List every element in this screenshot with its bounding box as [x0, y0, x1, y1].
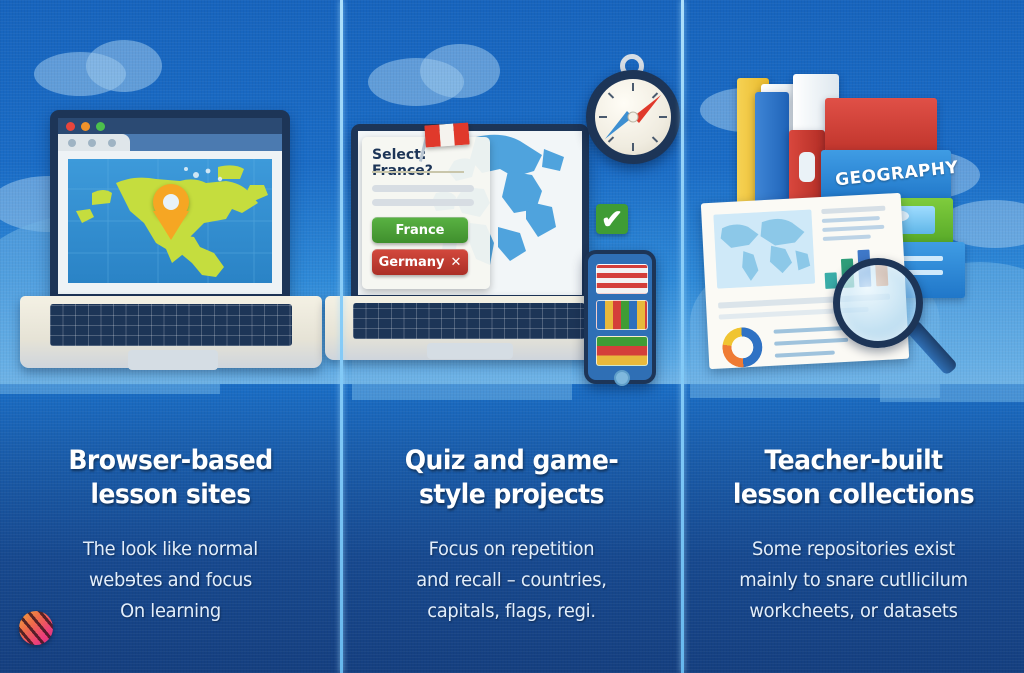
- traffic-light-maximize-icon[interactable]: [96, 122, 105, 131]
- magnifier-lens: [833, 258, 923, 348]
- laptop-illustration: [16, 106, 326, 382]
- heading-line: lesson sites: [12, 478, 329, 512]
- map-pin-tip: [153, 211, 189, 240]
- quiz-divider: [372, 171, 464, 173]
- worksheet-line: [822, 216, 880, 223]
- panel-body: Focus on repetition and recall – countri…: [351, 534, 672, 627]
- quiz-option-france[interactable]: France: [372, 217, 468, 243]
- laptop-trackpad[interactable]: [128, 350, 218, 370]
- panel-divider-left: [340, 0, 343, 673]
- browser-window: [58, 118, 282, 294]
- book-red-label: [799, 152, 815, 182]
- worksheet-line: [821, 206, 885, 214]
- donut-ring: [721, 326, 763, 368]
- map-pin-hole: [163, 194, 179, 210]
- body-line: workcheets, or datasets: [693, 596, 1014, 627]
- heading-line: Quiz and game-: [353, 444, 670, 478]
- tab-dot-icon: [88, 139, 96, 147]
- quiz-card: Select: France? France Germany ✕: [362, 137, 490, 289]
- quiz-placeholder-line: [372, 185, 474, 192]
- correct-check-badge: ✔: [596, 204, 628, 234]
- worksheet-donut-chart: [721, 326, 763, 368]
- flag-card[interactable]: [596, 264, 648, 294]
- quiz-placeholder-line: [372, 199, 474, 206]
- quiz-option-germany[interactable]: Germany ✕: [372, 249, 468, 275]
- book-blue-tall: [755, 92, 789, 214]
- compass-illustration: [578, 54, 682, 180]
- heading-line: lesson collections: [695, 478, 1012, 512]
- heading-line: Teacher-built: [695, 444, 1012, 478]
- heading-line: style projects: [353, 478, 670, 512]
- body-line: Focus on repetition: [351, 534, 672, 565]
- worksheet-line: [822, 225, 884, 232]
- panel-text-block: Teacher-built lesson collections Some re…: [683, 444, 1024, 627]
- panel-heading: Quiz and game- style projects: [353, 444, 670, 512]
- phone-illustration: [584, 250, 656, 384]
- laptop-keyboard[interactable]: [50, 304, 292, 346]
- infographic-canvas: Browser-based lesson sites The look like…: [0, 0, 1024, 673]
- panel-teacher-built-lesson-collections: GEOGRAPHY: [683, 0, 1024, 673]
- worksheet-line: [775, 351, 835, 358]
- magnifier-illustration: [831, 256, 971, 386]
- book-red-lying: [825, 98, 937, 152]
- quiz-prompt: Select: France?: [372, 147, 490, 179]
- body-line: On learning: [10, 596, 331, 627]
- body-line: Some repositories exist: [693, 534, 1014, 565]
- wrong-mark-icon: ✕: [451, 255, 462, 270]
- heading-line: Browser-based: [12, 444, 329, 478]
- laptop-keyboard[interactable]: [353, 303, 585, 339]
- laptop-trackpad[interactable]: [427, 343, 513, 359]
- panel-quiz-and-game-style-projects: Select: France? France Germany ✕: [341, 0, 682, 673]
- panel-divider-right: [681, 0, 684, 673]
- worksheet-map-svg: [713, 210, 815, 289]
- body-line: capitals, flags, regi.: [351, 596, 672, 627]
- body-line: The look like normal: [10, 534, 331, 565]
- flag-card[interactable]: [596, 336, 648, 366]
- phone-home-button[interactable]: [614, 370, 630, 386]
- browser-tab[interactable]: [58, 134, 130, 151]
- panel-text-block: Browser-based lesson sites The look like…: [0, 444, 341, 627]
- worksheet-map: [713, 210, 815, 289]
- panel-body: Some repositories exist mainly to snare …: [693, 534, 1014, 627]
- tab-dot-icon: [108, 139, 116, 147]
- world-map-viewport: [68, 159, 272, 283]
- body-line: webɘtes and focus: [10, 565, 331, 596]
- body-line: and recall – countries,: [351, 565, 672, 596]
- tab-dot-icon: [68, 139, 76, 147]
- books-illustration: GEOGRAPHY: [703, 74, 1003, 390]
- quiz-option-label: France: [395, 223, 444, 238]
- panel-heading: Teacher-built lesson collections: [695, 444, 1012, 512]
- panel-heading: Browser-based lesson sites: [12, 444, 329, 512]
- quiz-screen: Select: France? France Germany ✕: [358, 131, 582, 295]
- browser-tabbar: [58, 134, 282, 151]
- compass-needle-icon: [595, 79, 671, 155]
- check-icon: ✔: [601, 206, 623, 232]
- traffic-light-close-icon[interactable]: [66, 122, 75, 131]
- panel-text-block: Quiz and game- style projects Focus on r…: [341, 444, 682, 627]
- panel-browser-based-lesson-sites: Browser-based lesson sites The look like…: [0, 0, 341, 673]
- panel-body: The look like normal webɘtes and focus O…: [10, 534, 331, 627]
- browser-titlebar: [58, 118, 282, 134]
- france-flag-icon: [424, 122, 469, 147]
- worksheet-line: [823, 235, 871, 242]
- traffic-light-minimize-icon[interactable]: [81, 122, 90, 131]
- flag-card[interactable]: [596, 300, 648, 330]
- body-line: mainly to snare cutllicilum: [693, 565, 1014, 596]
- quiz-option-label: Germany: [379, 255, 445, 270]
